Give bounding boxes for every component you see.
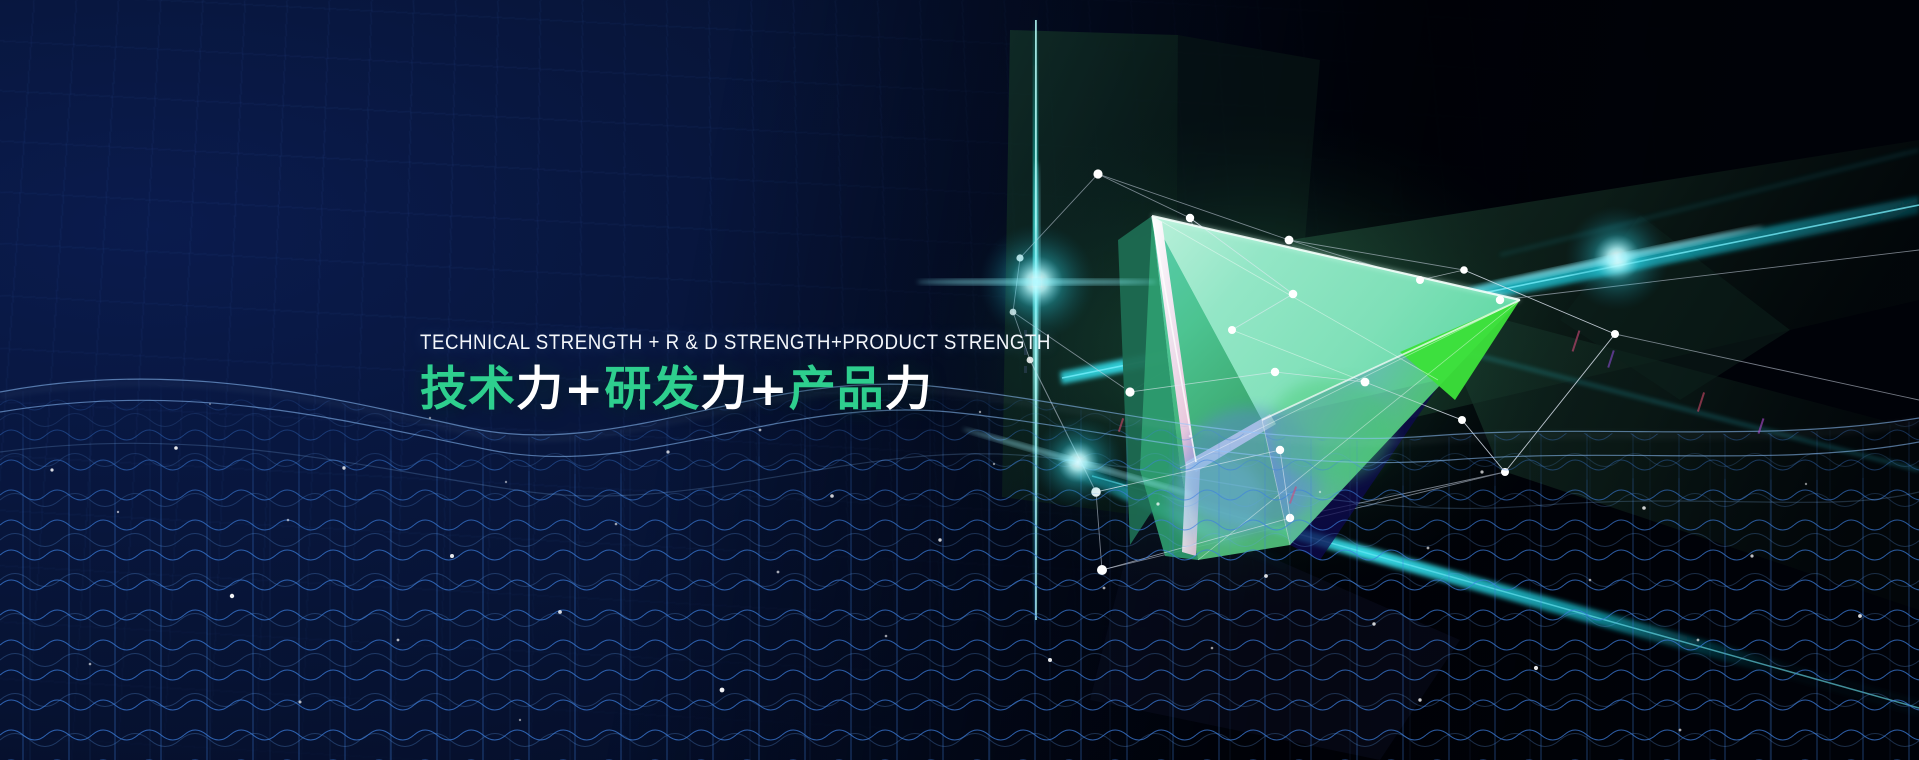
headline-cn-seg-5: 力 [700,362,748,417]
headline-english: TECHNICAL STRENGTH + R & D STRENGTH+PROD… [420,332,1051,354]
headline-cn-seg-1: 技术 [420,362,516,417]
headline-cn-seg-6: + [748,362,788,417]
headline-block: TECHNICAL STRENGTH + R & D STRENGTH+PROD… [420,332,1145,415]
headline-cn-seg-7: 产品 [789,362,885,417]
headline-chinese: 技术力+研发力+产品力 [420,365,1145,416]
headline-cn-seg-4: 研发 [604,362,700,417]
hero-banner: TECHNICAL STRENGTH + R & D STRENGTH+PROD… [0,0,1919,760]
headline-cn-seg-3: + [564,362,604,417]
headline-cn-seg-2: 力 [516,362,564,417]
headline-cn-seg-8: 力 [885,362,933,417]
